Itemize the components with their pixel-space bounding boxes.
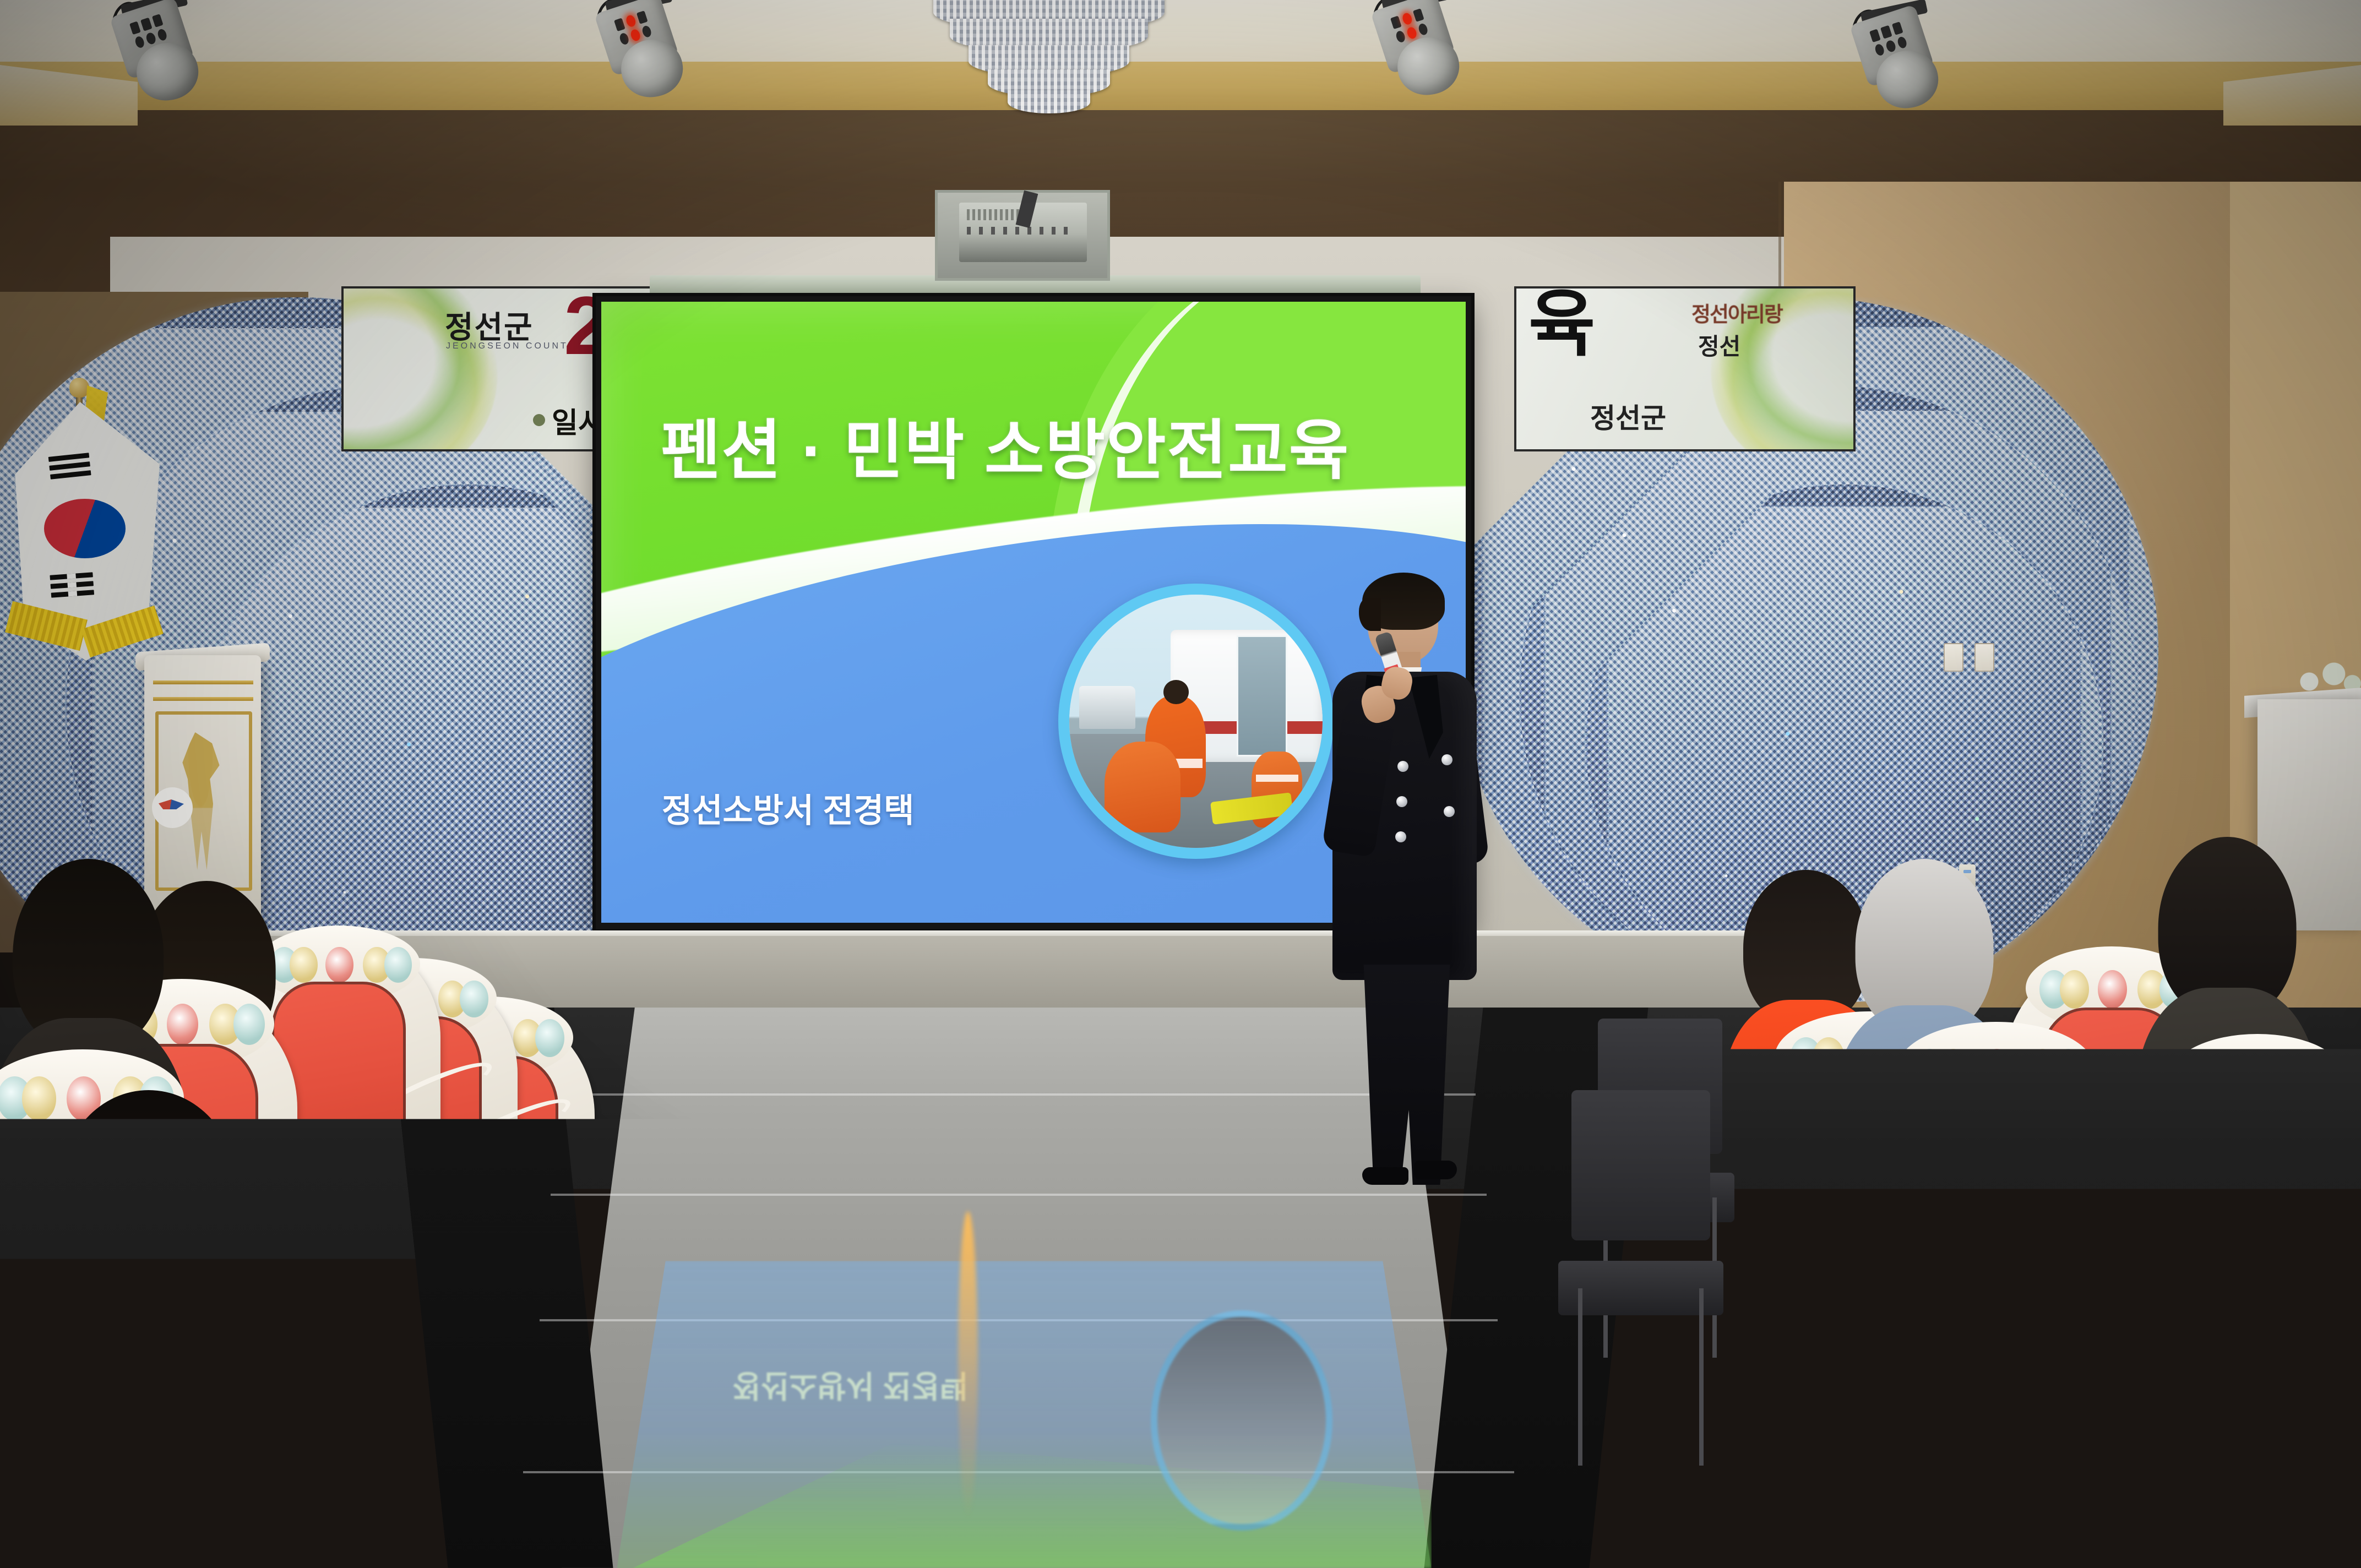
flag-taeguk-symbol: [44, 499, 126, 558]
presenter-shoe-right: [1414, 1161, 1457, 1179]
photo-paramedic-2: [1105, 742, 1180, 833]
banner-education-tail: 육: [1528, 292, 1595, 357]
crystal-chandelier: [911, 0, 1187, 124]
banner-arirang-logo: 정선아리랑: [1691, 297, 1782, 328]
floor-reflection-text: 정선소방서 전경택: [732, 1365, 968, 1410]
audience-chair-left-7[interactable]: [215, 1332, 501, 1568]
seminar-room-scene: 정선군 JEONGSEON COUNTY 20 일시 : 육 정선아리랑 정선 …: [0, 0, 2361, 1568]
photo-ambulance-rear-door: [1237, 635, 1287, 757]
event-banner-right: 육 정선아리랑 정선 정선군: [1514, 286, 1856, 451]
presenter-speaker: [1309, 579, 1502, 1185]
banner-bullet-dot: [533, 414, 545, 426]
presenter-legs: [1358, 965, 1456, 1185]
stage-spotlight-4: [1845, 6, 1960, 116]
stage-spotlight-1: [105, 0, 220, 108]
floor-tile-seam: [551, 1194, 1487, 1196]
wall-outlet-plate-2[interactable]: [1974, 643, 1994, 672]
presenter-hair: [1362, 573, 1445, 630]
banner-county-name: 정선군: [1590, 396, 1666, 436]
banner-county-name: 정선군: [445, 303, 534, 347]
audience-chair-left-6[interactable]: [0, 1299, 231, 1568]
lectern-gold-trim-1: [153, 680, 253, 684]
audience-chair-right-6[interactable]: [2037, 1310, 2324, 1568]
presenter-jacket-button: [1396, 796, 1407, 807]
presenter-shoe-left: [1362, 1167, 1408, 1185]
flag-trigram-geon: [48, 453, 92, 483]
presenter-shoulder-button: [1444, 806, 1455, 817]
chandelier-tier: [1008, 90, 1090, 113]
folding-chair-right-2[interactable]: [1558, 1090, 1723, 1431]
presenter-shoulder-button: [1441, 754, 1452, 765]
slide-circular-photo: [1058, 584, 1334, 859]
lectern-county-seal: [152, 787, 193, 828]
lectern-gold-trim-2: [153, 697, 253, 701]
photo-car: [1079, 686, 1135, 729]
presenter-jacket-button: [1397, 761, 1408, 772]
flag-trigram-gon: [50, 572, 94, 601]
slide-title: 펜션 · 민박 소방안전교육: [661, 398, 1350, 492]
stage-spotlight-2: [589, 0, 705, 105]
presenter-jacket-button: [1395, 831, 1406, 842]
audience-chair-right-5[interactable]: [1740, 1277, 2015, 1568]
banner-logo-subtitle: 정선: [1698, 328, 1740, 362]
projector-vent: [967, 209, 1024, 220]
floor-reflection-photo-circle: [1151, 1310, 1332, 1531]
flagpole-finial: [69, 378, 89, 398]
stage-spotlight-3: [1366, 0, 1481, 102]
banner-county-name-en: JEONGSEON COUNTY: [446, 341, 576, 351]
floor-lamp-reflection: [958, 1211, 978, 1520]
wall-outlet-plate-1[interactable]: [1944, 643, 1963, 672]
slide-presenter-line: 정선소방서 전경택: [662, 784, 914, 832]
projector-ports: [967, 227, 1071, 235]
